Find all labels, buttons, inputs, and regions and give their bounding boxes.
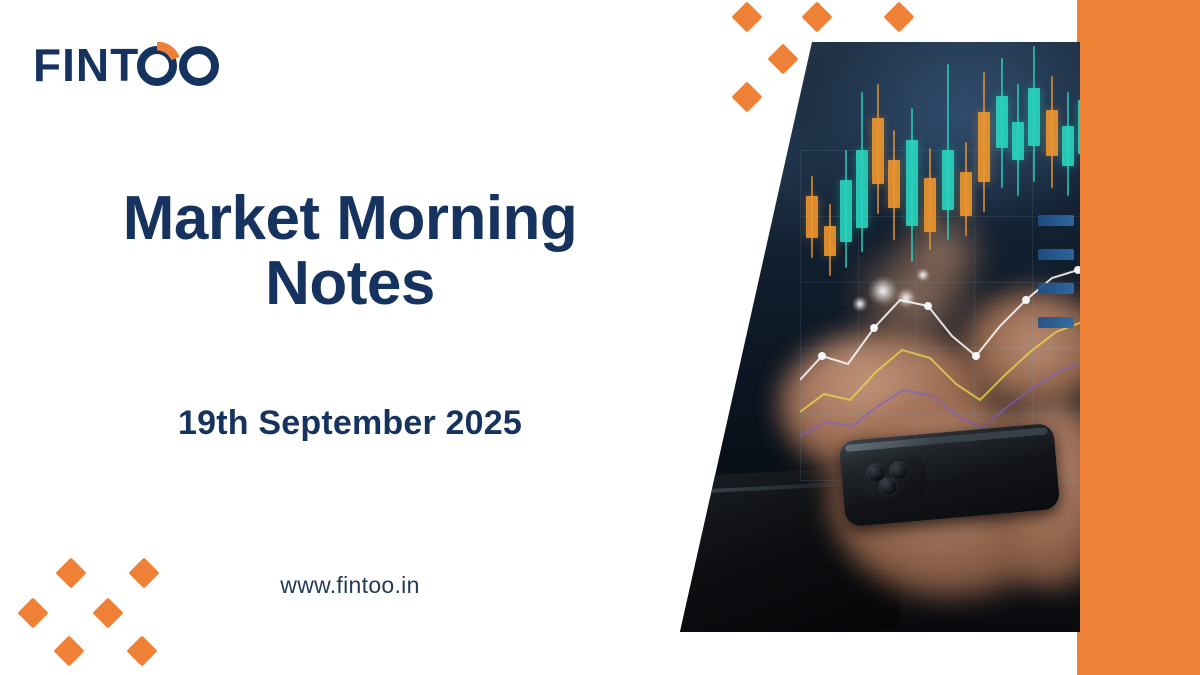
poster-canvas: FINT Market Morning Notes 19th September… — [0, 0, 1200, 675]
photo-ui-bar — [1038, 215, 1074, 226]
decorative-diamond-11 — [126, 635, 157, 666]
decorative-diamond-8 — [17, 597, 48, 628]
logo-letter-o-second — [183, 50, 215, 82]
decorative-diamond-1 — [731, 1, 762, 32]
website-url[interactable]: www.fintoo.in — [0, 572, 700, 599]
photo-ui-bar — [1038, 317, 1074, 328]
page-title: Market Morning Notes — [0, 186, 700, 316]
photo-ui-bar — [1038, 283, 1074, 294]
publication-date: 19th September 2025 — [0, 404, 700, 443]
photo-glow-sparkle — [852, 296, 868, 312]
decorative-diamond-2 — [801, 1, 832, 32]
photo-smartphone-camera — [862, 456, 927, 501]
decorative-diamond-9 — [92, 597, 123, 628]
hero-photo-background — [660, 0, 1080, 675]
candlestick-body — [996, 96, 1008, 148]
fintoo-logo[interactable]: FINT — [33, 42, 263, 98]
page-title-line1: Market Morning — [123, 184, 578, 253]
decorative-diamond-10 — [53, 635, 84, 666]
photo-glow-sparkle — [916, 268, 930, 282]
decorative-diamond-3 — [883, 1, 914, 32]
photo-glow-sparkle — [868, 276, 898, 306]
decorative-diamond-4 — [767, 43, 798, 74]
page-title-line2: Notes — [0, 251, 700, 316]
candlestick-body — [1078, 100, 1080, 154]
logo-wordmark-text: FINT — [33, 42, 139, 91]
photo-glow-sparkle — [896, 288, 916, 308]
decorative-diamond-5 — [731, 81, 762, 112]
orange-accent-bar — [1077, 0, 1200, 675]
hero-photo — [660, 0, 1080, 675]
candlestick-body — [1028, 88, 1040, 146]
photo-ui-bar — [1038, 249, 1074, 260]
